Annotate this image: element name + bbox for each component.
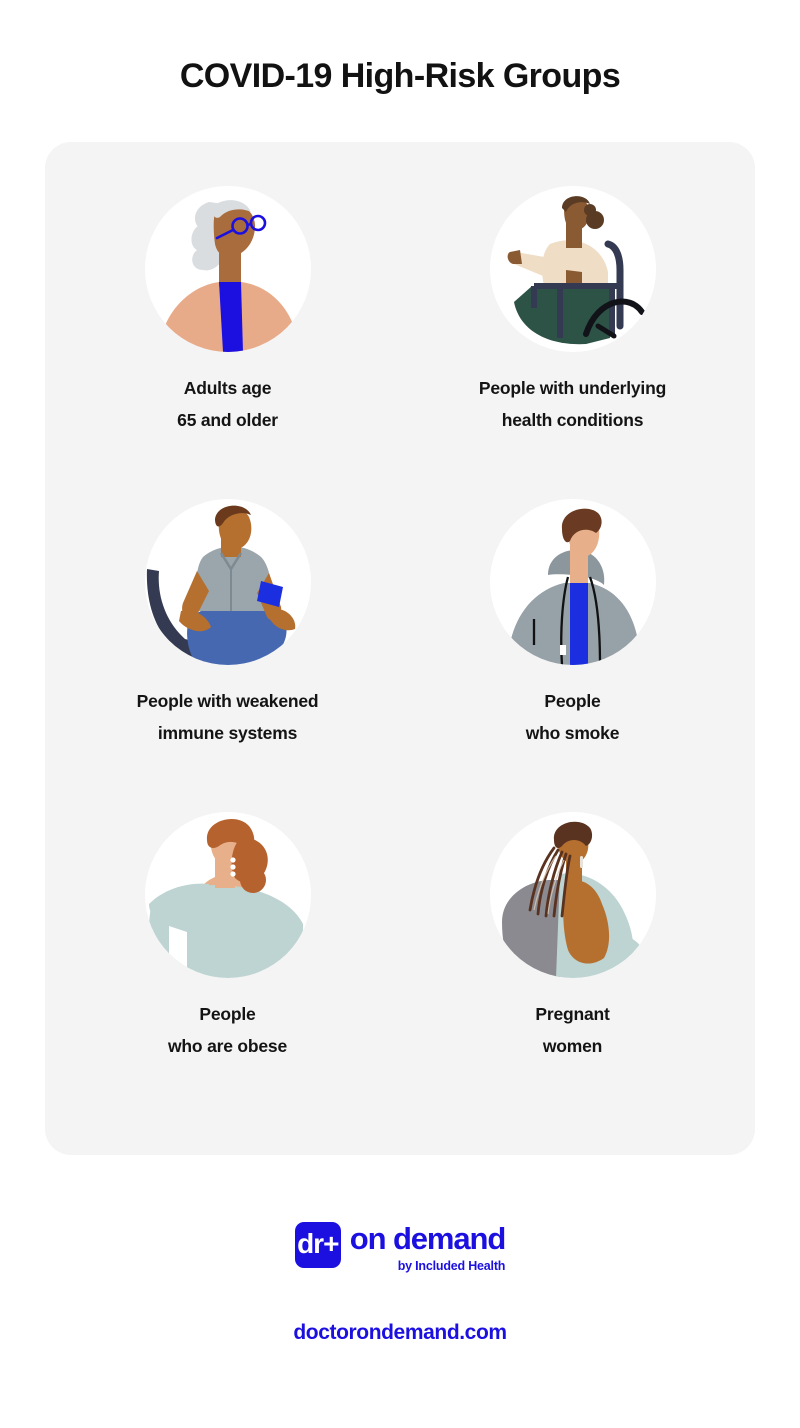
person-with-blood-pressure-cuff-icon [145, 499, 311, 665]
logo-subtitle: by Included Health [350, 1259, 505, 1273]
risk-group-card-weakened-immune: People with weakened immune systems [55, 499, 400, 812]
pregnant-woman-seated-icon [490, 812, 656, 978]
risk-group-caption: Adults age 65 and older [177, 372, 278, 437]
site-url-link[interactable]: doctorondemand.com [293, 1321, 506, 1345]
infographic-page: COVID-19 High-Risk Groups [0, 0, 800, 1428]
risk-group-caption: People with underlying health conditions [479, 372, 666, 437]
logo-wordmark: on demand [350, 1222, 505, 1257]
older-adult-with-glasses-icon [145, 186, 311, 352]
person-in-hoodie-icon [490, 499, 656, 665]
person-in-wheelchair-icon [490, 186, 656, 352]
logo-mark-label: dr+ [297, 1230, 338, 1258]
risk-group-caption: People who smoke [526, 685, 620, 750]
risk-group-caption: Pregnant women [535, 998, 609, 1063]
risk-group-card-underlying-conditions: People with underlying health conditions [400, 186, 745, 499]
dr-plus-logo-mark: dr+ [295, 1222, 341, 1268]
risk-group-card-obesity: People who are obese [55, 812, 400, 1125]
risk-group-card-older-adults: Adults age 65 and older [55, 186, 400, 499]
page-title: COVID-19 High-Risk Groups [0, 56, 800, 97]
logo-wordmark-group: on demand by Included Health [350, 1222, 505, 1273]
risk-group-card-pregnant: Pregnant women [400, 812, 745, 1125]
doctor-on-demand-logo[interactable]: dr+ on demand by Included Health [295, 1222, 505, 1273]
risk-group-caption: People with weakened immune systems [137, 685, 319, 750]
woman-in-off-shoulder-top-icon [145, 812, 311, 978]
risk-group-caption: People who are obese [168, 998, 287, 1063]
risk-groups-panel: Adults age 65 and older [45, 142, 755, 1155]
risk-group-card-smokers: People who smoke [400, 499, 745, 812]
footer: dr+ on demand by Included Health doctoro… [0, 1222, 800, 1345]
risk-groups-grid: Adults age 65 and older [45, 142, 755, 1155]
